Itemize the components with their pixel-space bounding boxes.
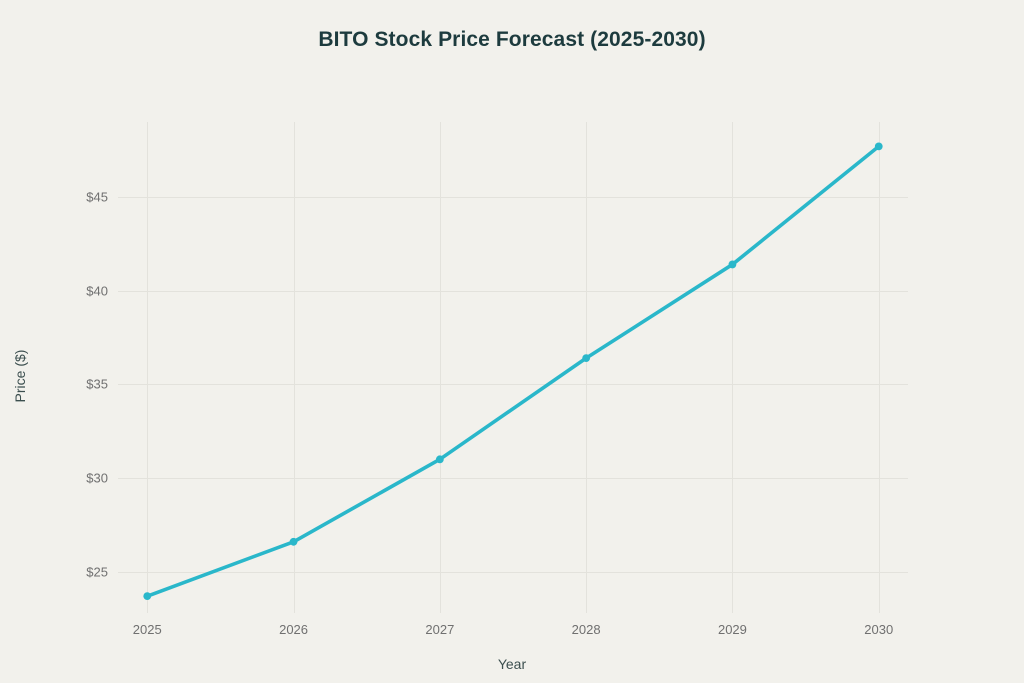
data-point-marker: [729, 261, 737, 269]
y-axis-tick-label: $30: [86, 471, 108, 486]
x-axis-tick-label: 2028: [572, 622, 601, 637]
x-axis-tick-label: 2027: [425, 622, 454, 637]
x-axis-title: Year: [0, 656, 1024, 672]
line-series-layer: [118, 122, 908, 613]
data-point-marker: [290, 538, 298, 546]
y-axis-tick-label: $40: [86, 283, 108, 298]
data-point-marker: [436, 455, 444, 463]
data-point-marker: [875, 142, 883, 150]
y-axis-title: Price ($): [12, 316, 28, 436]
chart-figure: BITO Stock Price Forecast (2025-2030) $2…: [0, 0, 1024, 683]
plot-area: [118, 122, 908, 613]
chart-title: BITO Stock Price Forecast (2025-2030): [0, 28, 1024, 52]
forecast-markers: [143, 142, 882, 600]
forecast-line: [147, 146, 878, 596]
x-axis-tick-label: 2029: [718, 622, 747, 637]
data-point-marker: [143, 592, 151, 600]
y-axis-tick-label: $25: [86, 564, 108, 579]
x-axis-tick-label: 2025: [133, 622, 162, 637]
y-axis-tick-label: $45: [86, 189, 108, 204]
x-axis-tick-label: 2026: [279, 622, 308, 637]
data-point-marker: [582, 354, 590, 362]
y-axis-tick-label: $35: [86, 377, 108, 392]
x-axis-tick-label: 2030: [864, 622, 893, 637]
